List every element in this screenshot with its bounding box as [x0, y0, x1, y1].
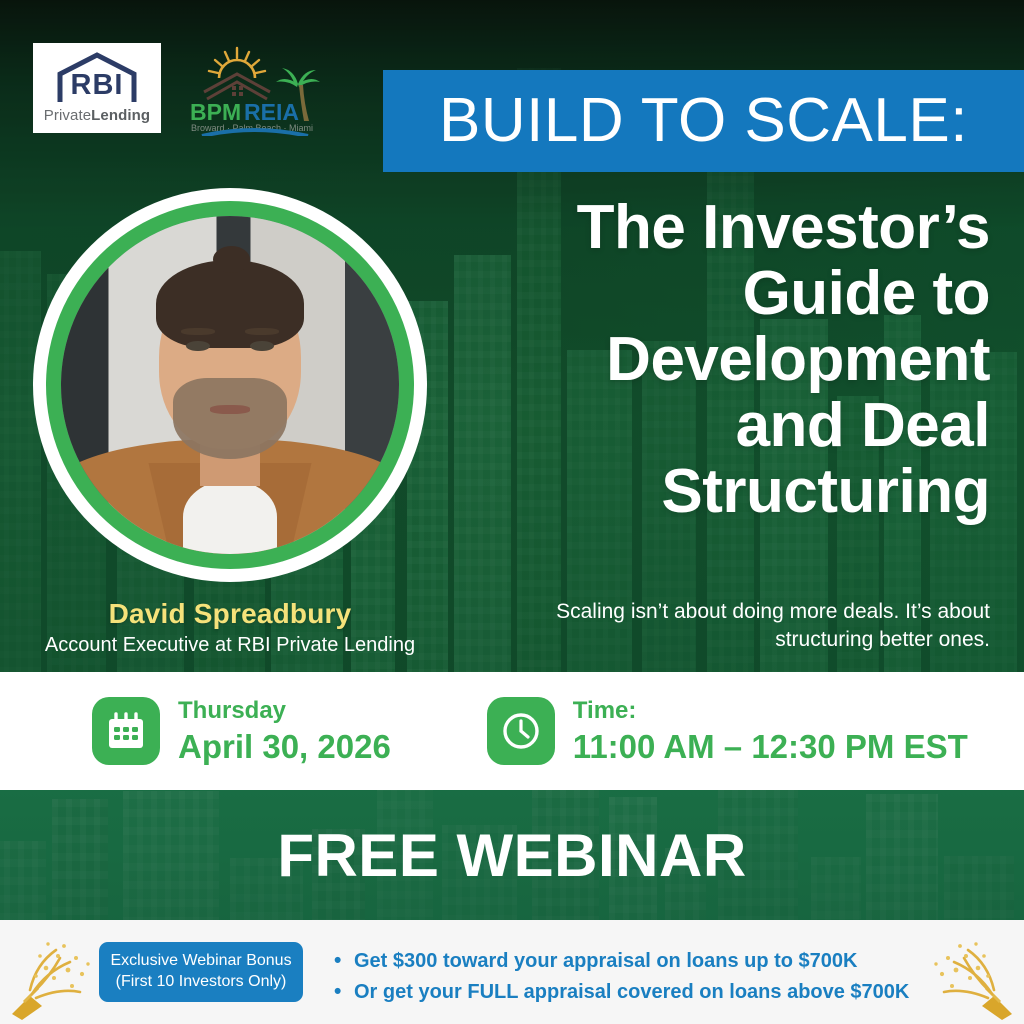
speaker-role: Account Executive at RBI Private Lending	[0, 634, 460, 657]
time-label: Time:	[573, 699, 968, 723]
hero-subtitle: Scaling isn’t about doing more deals. It…	[520, 598, 990, 654]
list-item: Or get your FULL appraisal covered on lo…	[332, 977, 909, 1008]
sun-house-palm-icon: BPM REIA Broward · Palm Beach · Miami	[182, 44, 330, 136]
bpm-reia-logo: BPM REIA Broward · Palm Beach · Miami	[182, 44, 330, 136]
rbi-wordmark-light: Private	[44, 107, 91, 124]
svg-text:BPM: BPM	[190, 99, 241, 125]
free-webinar-banner: FREE WEBINAR	[0, 790, 1024, 920]
avatar-ring	[46, 201, 414, 569]
date-value: April 30, 2026	[178, 730, 391, 763]
svg-text:RBI: RBI	[71, 69, 124, 101]
title-line: Structuring	[390, 459, 990, 525]
eyebrow-banner: BUILD TO SCALE:	[383, 70, 1024, 172]
list-item: Get $300 toward your appraisal on loans …	[332, 946, 909, 977]
speaker-name: David Spreadbury	[0, 598, 460, 630]
date-item: Thursday April 30, 2026	[92, 697, 391, 765]
speaker-headshot	[61, 216, 399, 554]
title-line: and Deal	[390, 393, 990, 459]
date-label: Thursday	[178, 699, 391, 723]
eyebrow-text: BUILD TO SCALE:	[439, 90, 968, 152]
rbi-wordmark-bold: Lending	[91, 107, 150, 124]
party-popper-icon	[920, 920, 1024, 1024]
time-item: Time: 11:00 AM – 12:30 PM EST	[487, 697, 968, 765]
house-outline-icon: RBI	[54, 52, 140, 104]
bonus-badge-line1: Exclusive Webinar Bonus	[105, 950, 297, 971]
title-line: The Investor’s	[390, 195, 990, 261]
page-title: The Investor’s Guide to Development and …	[390, 195, 990, 525]
time-value: 11:00 AM – 12:30 PM EST	[573, 730, 968, 763]
party-popper-icon	[0, 920, 104, 1024]
bonus-badge: Exclusive Webinar Bonus (First 10 Invest…	[99, 942, 303, 1002]
title-line: Development	[390, 327, 990, 393]
title-line: Guide to	[390, 261, 990, 327]
bonus-bullet-list: Get $300 toward your appraisal on loans …	[332, 946, 909, 1008]
bonus-section: Exclusive Webinar Bonus (First 10 Invest…	[0, 920, 1024, 1024]
rbi-logo: RBI PrivateLending	[33, 43, 161, 133]
hero-section: RBI PrivateLending	[0, 0, 1024, 672]
webinar-poster: RBI PrivateLending	[0, 0, 1024, 1024]
clock-icon	[487, 697, 555, 765]
svg-text:REIA: REIA	[244, 99, 299, 125]
bonus-badge-line2: (First 10 Investors Only)	[105, 971, 297, 992]
rbi-wordmark: PrivateLending	[44, 107, 150, 124]
free-webinar-text: FREE WEBINAR	[0, 790, 1024, 920]
avatar	[33, 188, 427, 582]
calendar-icon	[92, 697, 160, 765]
schedule-bar: Thursday April 30, 2026 Time: 11:00 AM –…	[0, 672, 1024, 790]
